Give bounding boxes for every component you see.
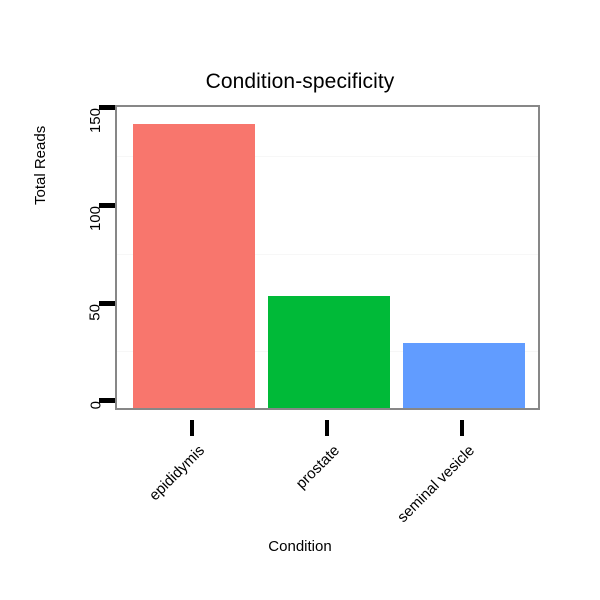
x-tick-mark-seminal-vesicle <box>460 420 464 436</box>
y-tick-label-100: 100 <box>87 206 105 231</box>
plot-panel <box>115 105 540 410</box>
y-axis-title: Total Reads <box>32 126 49 205</box>
bar-epididymis <box>133 124 255 408</box>
bar-seminal-vesicle <box>403 343 525 408</box>
x-tick-label-seminal-vesicle: seminal vesicle <box>374 442 478 546</box>
y-tick-label-0: 0 <box>87 401 105 409</box>
y-axis-line <box>113 106 115 402</box>
y-tick-label-150: 150 <box>87 108 105 133</box>
x-axis-title: Condition <box>0 538 600 555</box>
y-tick-label-50: 50 <box>87 304 105 321</box>
x-tick-label-epididymis: epididymis <box>118 442 208 532</box>
bar-prostate <box>268 296 390 408</box>
bar-chart-figure: Condition-specificity 150 100 50 0 Total… <box>0 0 600 600</box>
x-tick-label-prostate: prostate <box>253 442 343 532</box>
x-tick-mark-epididymis <box>190 420 194 436</box>
x-tick-mark-prostate <box>325 420 329 436</box>
chart-title: Condition-specificity <box>0 70 600 94</box>
